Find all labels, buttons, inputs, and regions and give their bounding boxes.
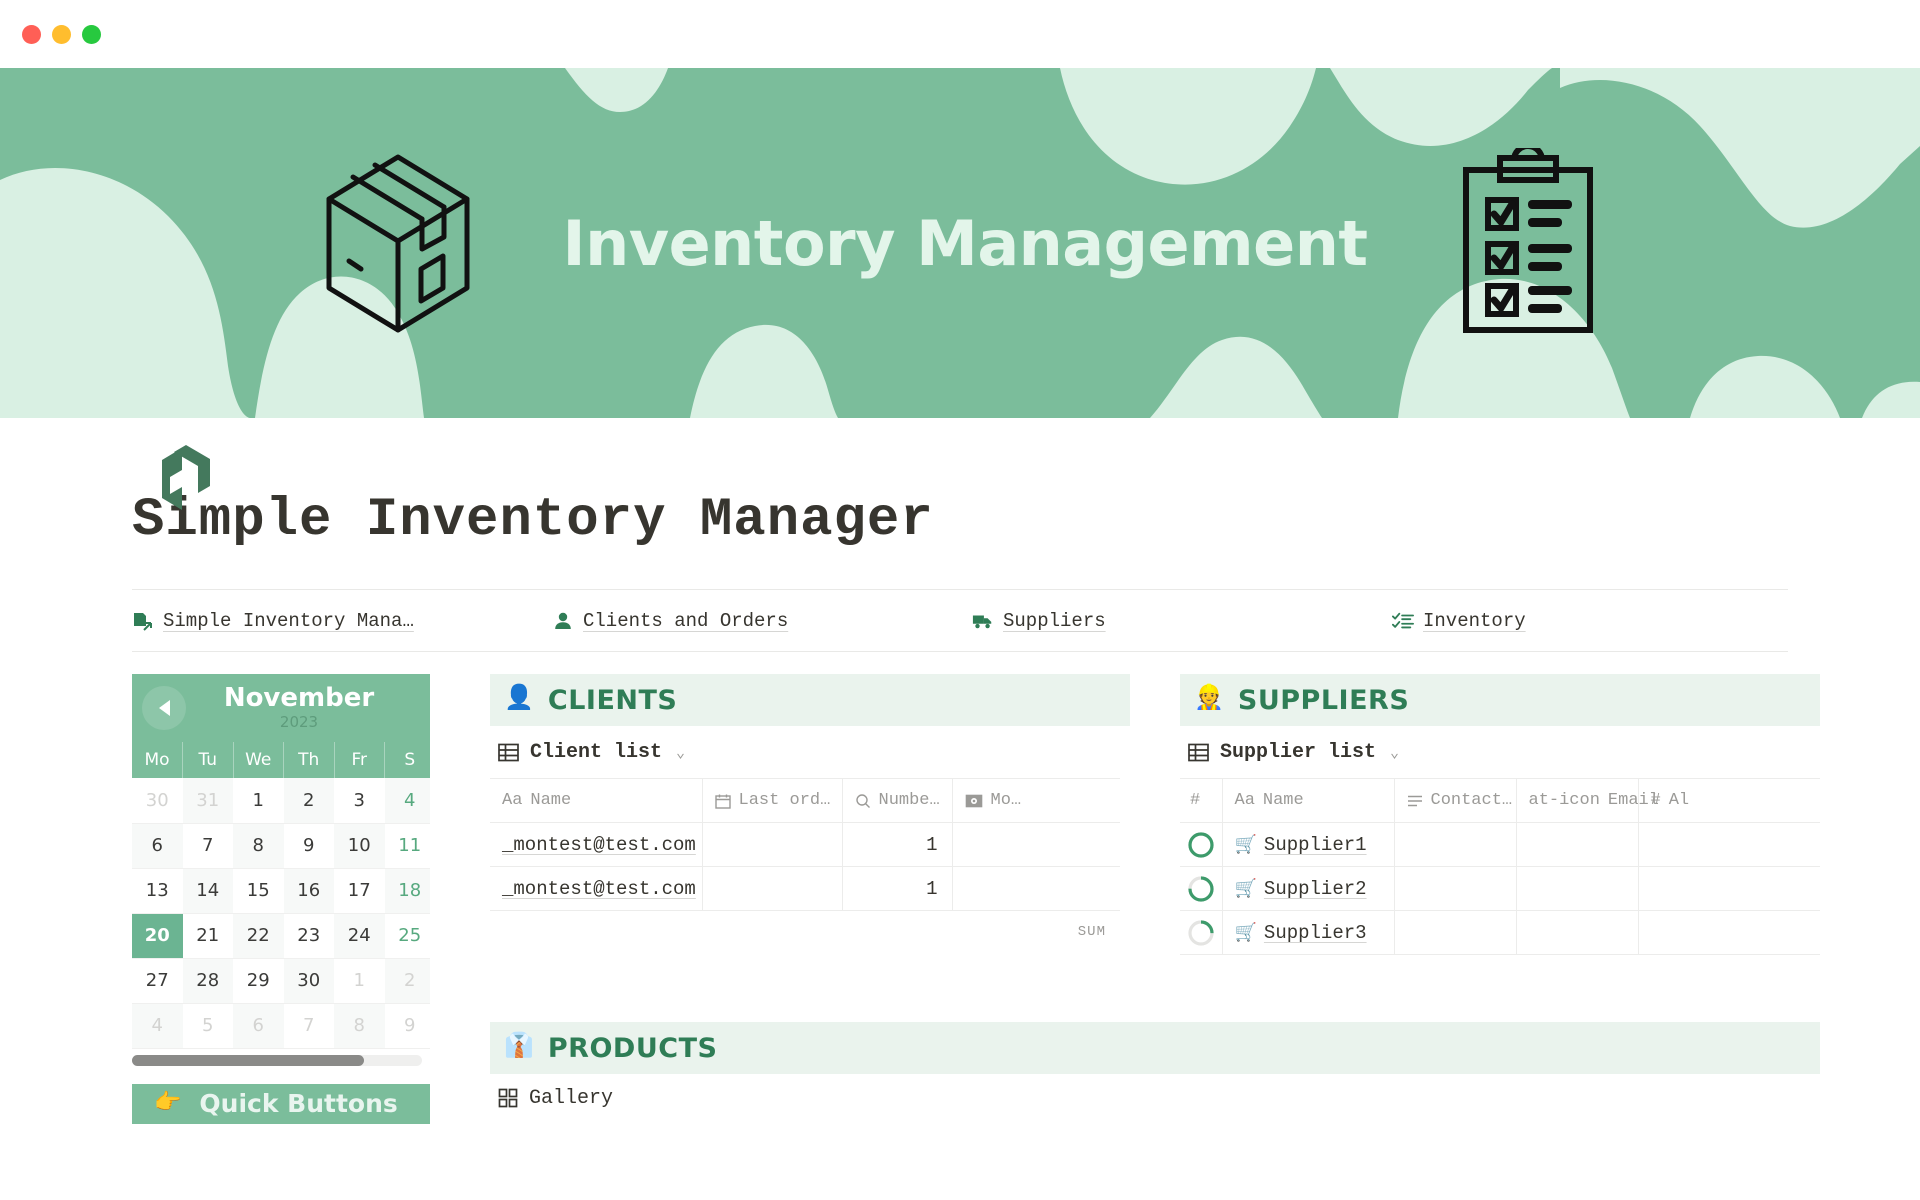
calendar-day-cell[interactable]: 30 — [284, 958, 335, 1003]
supplier-progress-cell[interactable] — [1180, 823, 1222, 867]
col-label: Name — [1263, 791, 1304, 810]
chevron-down-icon: ⌄ — [676, 743, 685, 762]
package-box-icon — [323, 151, 473, 336]
suppliers-col-contact[interactable]: Contact… — [1394, 779, 1516, 823]
col-label: Name — [530, 791, 571, 810]
calendar-weekday-row: Mo Tu We Th Fr S S — [132, 742, 430, 778]
page-nav-row: Simple Inventory Mana… Clients and Order… — [132, 590, 1788, 652]
calendar-icon — [715, 793, 731, 809]
calendar-month-label: November — [186, 685, 412, 712]
formula-search-icon — [855, 793, 871, 809]
col-label: Last ord… — [739, 791, 831, 810]
clients-col-number[interactable]: Numbe… — [842, 779, 952, 823]
at-icon: at-icon — [1529, 791, 1600, 810]
calendar-weekday: We — [233, 742, 284, 778]
suppliers-col-progress[interactable]: # — [1180, 779, 1222, 823]
calendar-day-cell[interactable]: 8 — [233, 823, 284, 868]
calendar-day-cell[interactable]: 5 — [183, 1003, 234, 1048]
calendar-day-cell[interactable]: 27 — [132, 958, 183, 1003]
suppliers-table-clip: # AaName Contact… at-iconEmail #Al 🛒Supp… — [1180, 778, 1820, 955]
page-title: Simple Inventory Manager — [132, 490, 1920, 551]
nav-item-clients-and-orders[interactable]: Clients and Orders — [552, 610, 972, 632]
person-emoji-icon: 👤 — [504, 688, 534, 712]
supplier-contact-cell[interactable] — [1394, 867, 1516, 911]
suppliers-section-title: SUPPLIERS — [1238, 685, 1409, 716]
client-number-cell[interactable]: 1 — [842, 867, 952, 911]
calendar-week-row: 20212223242526 — [132, 913, 430, 958]
calendar-day-cell[interactable]: 2 — [284, 778, 335, 823]
suppliers-table: # AaName Contact… at-iconEmail #Al 🛒Supp… — [1180, 778, 1820, 955]
calendar-day-cell[interactable]: 29 — [233, 958, 284, 1003]
calendar-day-cell[interactable]: 9 — [385, 1003, 431, 1048]
gallery-view-icon — [498, 1088, 518, 1108]
calendar-day-cell[interactable]: 4 — [385, 778, 431, 823]
clients-table: AaName Last ord… Numbe… Mo… _montest@tes… — [490, 778, 1120, 911]
calendar-day-cell[interactable]: 30 — [132, 778, 183, 823]
supplier-list-name: Supplier list — [1220, 741, 1376, 764]
nav-item-simple-inventory-manager[interactable]: Simple Inventory Mana… — [132, 610, 552, 632]
progress-ring-icon — [1186, 918, 1216, 948]
nav-label: Simple Inventory Mana… — [163, 610, 414, 632]
suppliers-col-al[interactable]: #Al — [1638, 779, 1820, 823]
supplier-al-cell[interactable] — [1638, 911, 1820, 955]
suppliers-section-header: 👷 SUPPLIERS — [1180, 674, 1820, 726]
calendar-day-cell[interactable]: 8 — [334, 1003, 385, 1048]
quick-buttons-label: Quick Buttons — [199, 1089, 397, 1118]
nav-label: Suppliers — [1003, 610, 1106, 632]
truck-icon — [972, 610, 994, 632]
client-last-order-cell[interactable] — [702, 867, 842, 911]
supplier-name-cell[interactable]: 🛒Supplier1 — [1222, 823, 1394, 867]
calendar-day-cell[interactable]: 17 — [334, 868, 385, 913]
client-list-name: Client list — [530, 741, 662, 764]
table-view-icon — [498, 742, 519, 763]
supplier-email-cell[interactable] — [1516, 911, 1638, 955]
calendar-weekday: Th — [284, 742, 335, 778]
col-label: Numbe… — [879, 791, 940, 810]
clients-section-title: CLIENTS — [548, 685, 677, 716]
suppliers-column: 👷 SUPPLIERS Supplier list ⌄ # AaName — [1180, 674, 1820, 955]
progress-ring-icon — [1186, 830, 1216, 860]
calendar-day-cell[interactable]: 13 — [132, 868, 183, 913]
calendar-header: November 2023 — [132, 674, 430, 742]
table-row[interactable]: _montest@test.com1 — [490, 823, 1120, 867]
supplier-al-cell[interactable] — [1638, 867, 1820, 911]
calendar-day-cell[interactable]: 7 — [284, 1003, 335, 1048]
table-view-icon — [1188, 742, 1209, 763]
chevron-down-icon: ⌄ — [1390, 743, 1399, 762]
client-money-cell[interactable] — [952, 823, 1120, 867]
calendar-day-cell[interactable]: 18 — [385, 868, 431, 913]
clipboard-checklist-icon — [1458, 148, 1598, 338]
money-icon — [965, 794, 983, 808]
page-link-icon — [132, 610, 154, 632]
supplier-name-cell[interactable]: 🛒Supplier3 — [1222, 911, 1394, 955]
progress-ring-icon — [1186, 874, 1216, 904]
text-type-icon: Aa — [502, 791, 522, 810]
table-row[interactable]: 🛒Supplier2 — [1180, 867, 1820, 911]
calendar-week-row: 27282930123 — [132, 958, 430, 1003]
calendar-weekday: S — [385, 742, 431, 778]
calendar-weekday: Mo — [132, 742, 183, 778]
calendar-day-cell[interactable]: 23 — [284, 913, 335, 958]
client-money-cell[interactable] — [952, 867, 1120, 911]
calendar-day-cell[interactable]: 4 — [132, 1003, 183, 1048]
calendar-widget: November 2023 Mo Tu We Th Fr S S 3031123… — [132, 674, 430, 1066]
clients-col-name[interactable]: AaName — [490, 779, 702, 823]
clients-column: 👤 CLIENTS Client list ⌄ AaName Las — [490, 674, 1130, 1122]
shopping-cart-icon: 🛒 — [1235, 924, 1257, 944]
nav-label: Clients and Orders — [583, 610, 788, 632]
col-label: Mo… — [991, 791, 1022, 810]
supplier-contact-cell[interactable] — [1394, 823, 1516, 867]
shopping-cart-icon: 🛒 — [1235, 836, 1257, 856]
calendar-day-cell[interactable]: 25 — [385, 913, 431, 958]
nav-label: Inventory — [1423, 610, 1526, 632]
maximize-window-button[interactable] — [82, 25, 101, 44]
suppliers-col-email[interactable]: at-iconEmail — [1516, 779, 1638, 823]
calendar-weekday: Tu — [183, 742, 234, 778]
calendar-day-cell[interactable]: 15 — [233, 868, 284, 913]
checklist-icon — [1392, 610, 1414, 632]
calendar-day-cell[interactable]: 9 — [284, 823, 335, 868]
window-titlebar — [0, 0, 1920, 68]
suppliers-col-name[interactable]: AaName — [1222, 779, 1394, 823]
client-name-cell[interactable]: _montest@test.com — [490, 867, 702, 911]
supplier-name-cell[interactable]: 🛒Supplier2 — [1222, 867, 1394, 911]
text-lines-icon — [1407, 794, 1423, 808]
calendar-day-cell[interactable]: 6 — [132, 823, 183, 868]
clients-section-header: 👤 CLIENTS — [490, 674, 1130, 726]
supplier-contact-cell[interactable] — [1394, 911, 1516, 955]
calendar-day-cell[interactable]: 31 — [183, 778, 234, 823]
calendar-year-label: 2023 — [186, 713, 412, 731]
calendar-day-cell[interactable]: 28 — [183, 958, 234, 1003]
supplier-progress-cell[interactable] — [1180, 911, 1222, 955]
calendar-weekday: Fr — [334, 742, 385, 778]
calendar-day-cell[interactable]: 3 — [334, 778, 385, 823]
table-row[interactable]: _montest@test.com1 — [490, 867, 1120, 911]
text-type-icon: Aa — [1235, 791, 1255, 810]
supplier-al-cell[interactable] — [1638, 823, 1820, 867]
cube-logo-icon — [152, 442, 222, 520]
clients-col-money[interactable]: Mo… — [952, 779, 1120, 823]
client-list-view-selector[interactable]: Client list ⌄ — [490, 726, 1130, 778]
table-row[interactable]: 🛒Supplier1 — [1180, 823, 1820, 867]
calendar-prev-button[interactable] — [142, 686, 186, 730]
calendar-day-cell[interactable]: 24 — [334, 913, 385, 958]
products-gallery-view-selector[interactable]: Gallery — [490, 1074, 1130, 1122]
suppliers-header-row: # AaName Contact… at-iconEmail #Al — [1180, 779, 1820, 823]
nav-item-inventory[interactable]: Inventory — [1392, 610, 1526, 632]
cover-banner: Inventory Management — [0, 68, 1920, 418]
products-section-header: 👔 PRODUCTS — [490, 1022, 1820, 1074]
calendar-day-cell[interactable]: 6 — [233, 1003, 284, 1048]
worker-emoji-icon: 👷 — [1194, 688, 1224, 712]
products-gallery-label: Gallery — [529, 1087, 613, 1110]
supplier-email-cell[interactable] — [1516, 823, 1638, 867]
cover-title: Inventory Management — [563, 207, 1368, 280]
supplier-progress-cell[interactable] — [1180, 867, 1222, 911]
shirt-emoji-icon: 👔 — [504, 1036, 534, 1060]
supplier-email-cell[interactable] — [1516, 867, 1638, 911]
clients-table-clip: AaName Last ord… Numbe… Mo… _montest@tes… — [490, 778, 1120, 911]
close-window-button[interactable] — [22, 25, 41, 44]
col-label: Contact… — [1431, 791, 1513, 810]
supplier-list-view-selector[interactable]: Supplier list ⌄ — [1180, 726, 1820, 778]
client-last-order-cell[interactable] — [702, 823, 842, 867]
calendar-day-cell[interactable]: 11 — [385, 823, 431, 868]
shopping-cart-icon: 🛒 — [1235, 880, 1257, 900]
number-type-icon: # — [1190, 791, 1200, 810]
calendar-horizontal-scrollbar[interactable] — [132, 1055, 422, 1066]
number-type-icon: # — [1651, 791, 1661, 810]
calendar-day-cell[interactable]: 20 — [132, 913, 183, 958]
minimize-window-button[interactable] — [52, 25, 71, 44]
calendar-week-row: 45678910 — [132, 1003, 430, 1048]
clients-header-row: AaName Last ord… Numbe… Mo… — [490, 779, 1120, 823]
calendar-day-cell[interactable]: 22 — [233, 913, 284, 958]
calendar-week-row: 303112345 — [132, 778, 430, 823]
main-content: November 2023 Mo Tu We Th Fr S S 3031123… — [132, 674, 1788, 1124]
calendar-day-cell[interactable]: 1 — [334, 958, 385, 1003]
calendar-grid: Mo Tu We Th Fr S S 303112345678910111213… — [132, 742, 430, 1049]
client-number-cell[interactable]: 1 — [842, 823, 952, 867]
calendar-day-cell[interactable]: 7 — [183, 823, 234, 868]
products-section-title: PRODUCTS — [548, 1033, 718, 1064]
calendar-day-cell[interactable]: 21 — [183, 913, 234, 958]
col-label: Al — [1669, 791, 1689, 810]
quick-buttons-header[interactable]: 👉 Quick Buttons — [132, 1084, 430, 1124]
calendar-day-cell[interactable]: 2 — [385, 958, 431, 1003]
calendar-week-row: 13141516171819 — [132, 868, 430, 913]
clients-sum-footer: SUM — [490, 924, 1120, 940]
pointer-right-icon: 👉 — [154, 1093, 181, 1115]
table-row[interactable]: 🛒Supplier3 — [1180, 911, 1820, 955]
calendar-day-cell[interactable]: 10 — [334, 823, 385, 868]
client-name-cell[interactable]: _montest@test.com — [490, 823, 702, 867]
clients-col-last-order[interactable]: Last ord… — [702, 779, 842, 823]
calendar-day-cell[interactable]: 1 — [233, 778, 284, 823]
calendar-day-cell[interactable]: 14 — [183, 868, 234, 913]
calendar-column: November 2023 Mo Tu We Th Fr S S 3031123… — [132, 674, 430, 1124]
calendar-week-row: 6789101112 — [132, 823, 430, 868]
calendar-day-cell[interactable]: 16 — [284, 868, 335, 913]
nav-item-suppliers[interactable]: Suppliers — [972, 610, 1392, 632]
person-icon — [552, 610, 574, 632]
